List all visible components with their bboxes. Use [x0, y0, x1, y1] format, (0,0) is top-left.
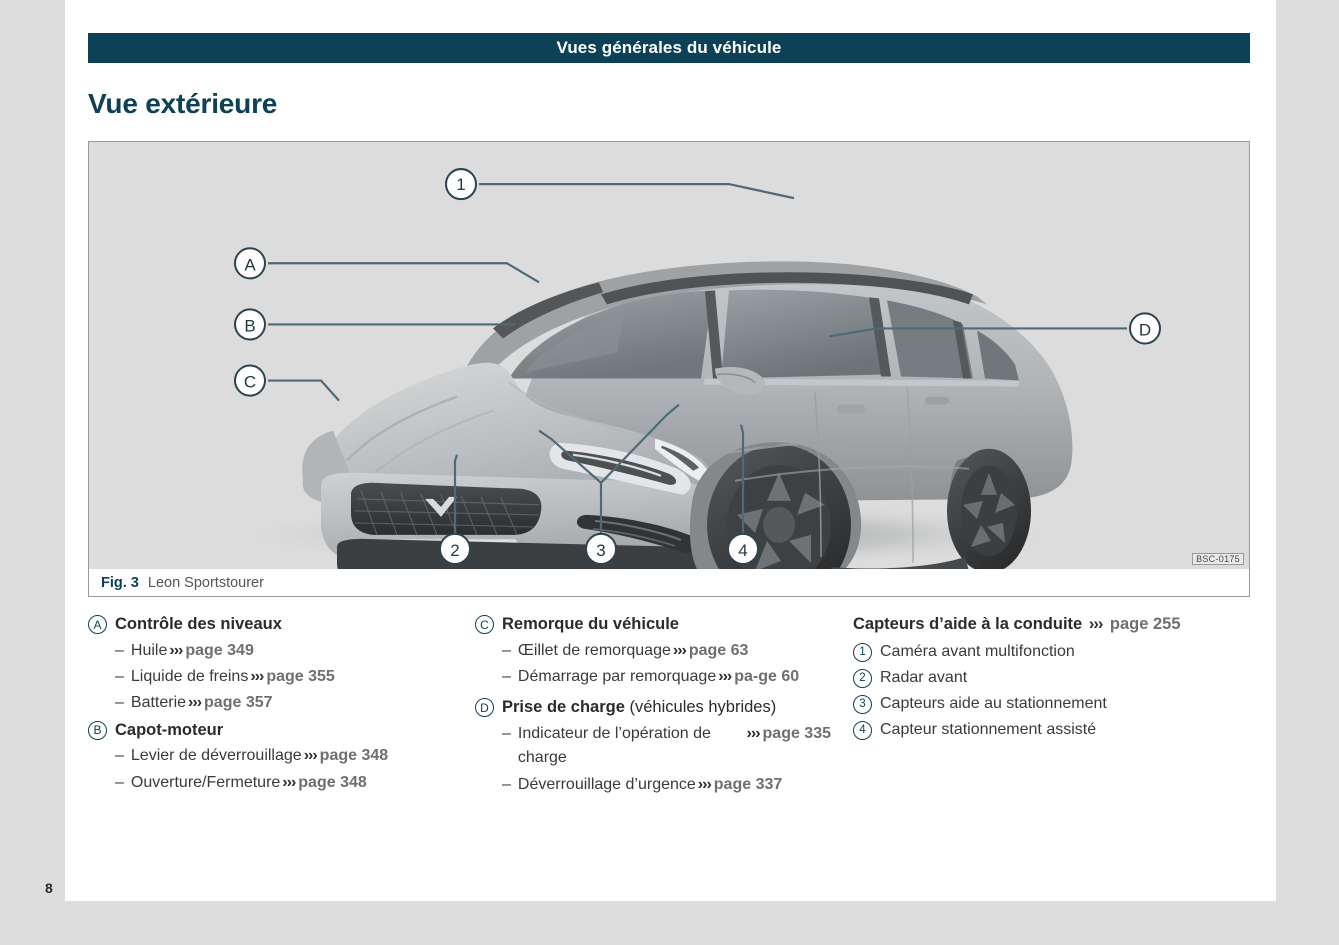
legend-entry-c: C Remorque du véhicule – Œillet de remor… — [475, 612, 831, 689]
legend-item-4-label: Capteur stationnement assisté — [880, 718, 1096, 742]
dash-bullet: – — [115, 639, 124, 663]
chevron-icon: ››› — [673, 639, 686, 663]
sub-item-text: Ouverture/Fermeture — [131, 771, 280, 795]
dash-bullet: – — [502, 722, 511, 746]
dash-bullet: – — [115, 691, 124, 715]
legend-item-3: 3 Capteurs aide au stationnement — [853, 692, 1228, 716]
legend-column-3: Capteurs d’aide à la conduite ››› page 2… — [853, 612, 1250, 799]
page-reference[interactable]: page 357 — [204, 691, 272, 715]
figure-legend: A Contrôle des niveaux – Huile ››› page … — [88, 612, 1250, 799]
legend-entry-d-title-suffix: (véhicules hybrides) — [630, 698, 777, 716]
page-reference[interactable]: page 355 — [266, 665, 334, 689]
legend-entry-c-title: Remorque du véhicule — [502, 612, 679, 637]
legend-sub-item: – Œillet de remorquage ››› page 63 — [502, 639, 831, 663]
figure-label: Fig. 3 — [101, 575, 139, 591]
sub-item-text: Indicateur de l’opération de charge — [518, 722, 745, 771]
legend-sub-item: – Levier de déverrouillage ››› page 348 — [115, 744, 453, 768]
vehicle-illustration: 1 A B C D 2 3 4 — [89, 142, 1249, 569]
legend-item-1-label: Caméra avant multifonction — [880, 640, 1075, 664]
legend-item-2-label: Radar avant — [880, 666, 967, 690]
chevron-icon: ››› — [188, 691, 201, 715]
dash-bullet: – — [502, 773, 511, 797]
legend-item-1: 1 Caméra avant multifonction — [853, 640, 1228, 664]
running-header: Vues générales du véhicule — [88, 33, 1250, 63]
legend-column-3-title-text: Capteurs d’aide à la conduite — [853, 615, 1082, 633]
dash-bullet: – — [502, 665, 511, 689]
legend-sub-item: – Batterie ››› page 357 — [115, 691, 453, 715]
legend-item-2: 2 Radar avant — [853, 666, 1228, 690]
marker-d: D — [475, 698, 494, 717]
sub-item-text: Liquide de freins — [131, 665, 248, 689]
legend-entry-d-head: D Prise de charge (véhicules hybrides) — [475, 695, 831, 720]
legend-entry-a-head: A Contrôle des niveaux — [88, 612, 453, 637]
document-page: Vues générales du véhicule Vue extérieur… — [0, 0, 1339, 945]
chevron-icon: ››› — [698, 773, 711, 797]
figure-code: BSC-0175 — [1192, 553, 1244, 565]
svg-text:3: 3 — [596, 541, 605, 560]
page-reference[interactable]: pa-ge 60 — [734, 665, 799, 689]
legend-sub-item: – Ouverture/Fermeture ››› page 348 — [115, 771, 453, 795]
legend-entry-d: D Prise de charge (véhicules hybrides) –… — [475, 695, 831, 797]
legend-column-1: A Contrôle des niveaux – Huile ››› page … — [88, 612, 475, 799]
svg-text:B: B — [244, 316, 255, 335]
svg-text:2: 2 — [450, 541, 459, 560]
page-number: 8 — [45, 880, 53, 896]
legend-entry-a: A Contrôle des niveaux – Huile ››› page … — [88, 612, 453, 716]
legend-entry-b-head: B Capot-moteur — [88, 718, 453, 743]
sub-item-text: Huile — [131, 639, 167, 663]
dash-bullet: – — [115, 744, 124, 768]
svg-text:A: A — [244, 255, 256, 274]
legend-sub-item: – Liquide de freins ››› page 355 — [115, 665, 453, 689]
marker-b: B — [88, 721, 107, 740]
svg-text:C: C — [244, 373, 256, 392]
marker-4: 4 — [853, 721, 872, 740]
chevron-icon: ››› — [304, 744, 317, 768]
legend-column-3-title: Capteurs d’aide à la conduite ››› page 2… — [853, 612, 1228, 637]
legend-sub-item: – Huile ››› page 349 — [115, 639, 453, 663]
page-reference[interactable]: page 348 — [298, 771, 366, 795]
page-reference[interactable]: page 335 — [763, 722, 831, 746]
page-reference[interactable]: page 255 — [1110, 615, 1181, 633]
marker-1: 1 — [853, 643, 872, 662]
legend-entry-d-title: Prise de charge (véhicules hybrides) — [502, 695, 776, 720]
marker-2: 2 — [853, 669, 872, 688]
page-reference[interactable]: page 337 — [714, 773, 782, 797]
legend-entry-b: B Capot-moteur – Levier de déverrouillag… — [88, 718, 453, 795]
legend-entry-b-title: Capot-moteur — [115, 718, 223, 743]
page-reference[interactable]: page 348 — [320, 744, 388, 768]
marker-c: C — [475, 615, 494, 634]
svg-text:D: D — [1139, 320, 1151, 339]
sub-item-text: Œillet de remorquage — [518, 639, 671, 663]
dash-bullet: – — [502, 639, 511, 663]
marker-a: A — [88, 615, 107, 634]
chevron-icon: ››› — [718, 665, 731, 689]
sub-item-text: Déverrouillage d’urgence — [518, 773, 696, 797]
legend-sub-item: – Indicateur de l’opération de charge ››… — [502, 722, 831, 771]
page-reference[interactable]: page 349 — [185, 639, 253, 663]
chevron-icon: ››› — [169, 639, 182, 663]
figure-image: 1 A B C D 2 3 4 BSC-0175 — [88, 141, 1250, 569]
legend-sub-item: – Démarrage par remorquage ››› pa-ge 60 — [502, 665, 831, 689]
sub-item-text: Démarrage par remorquage — [518, 665, 716, 689]
legend-entry-c-head: C Remorque du véhicule — [475, 612, 831, 637]
legend-entry-d-title-main: Prise de charge — [502, 698, 625, 716]
legend-item-4: 4 Capteur stationnement assisté — [853, 718, 1228, 742]
page-title: Vue extérieure — [88, 88, 277, 120]
legend-item-3-label: Capteurs aide au stationnement — [880, 692, 1107, 716]
running-header-title: Vues générales du véhicule — [557, 38, 782, 58]
chevron-icon: ››› — [747, 722, 760, 746]
chevron-icon: ››› — [282, 771, 295, 795]
sub-item-text: Levier de déverrouillage — [131, 744, 302, 768]
dash-bullet: – — [115, 665, 124, 689]
page-reference[interactable]: page 63 — [689, 639, 749, 663]
legend-entry-a-title: Contrôle des niveaux — [115, 612, 282, 637]
legend-column-2: C Remorque du véhicule – Œillet de remor… — [475, 612, 853, 799]
figure-caption-text: Leon Sportstourer — [148, 575, 264, 591]
chevron-icon: ››› — [1089, 615, 1102, 633]
sub-item-text: Batterie — [131, 691, 186, 715]
legend-sub-item: – Déverrouillage d’urgence ››› page 337 — [502, 773, 831, 797]
svg-text:1: 1 — [456, 175, 465, 194]
figure-caption: Fig. 3 Leon Sportstourer — [88, 569, 1250, 597]
marker-3: 3 — [853, 695, 872, 714]
chevron-icon: ››› — [250, 665, 263, 689]
svg-text:4: 4 — [738, 541, 747, 560]
dash-bullet: – — [115, 771, 124, 795]
